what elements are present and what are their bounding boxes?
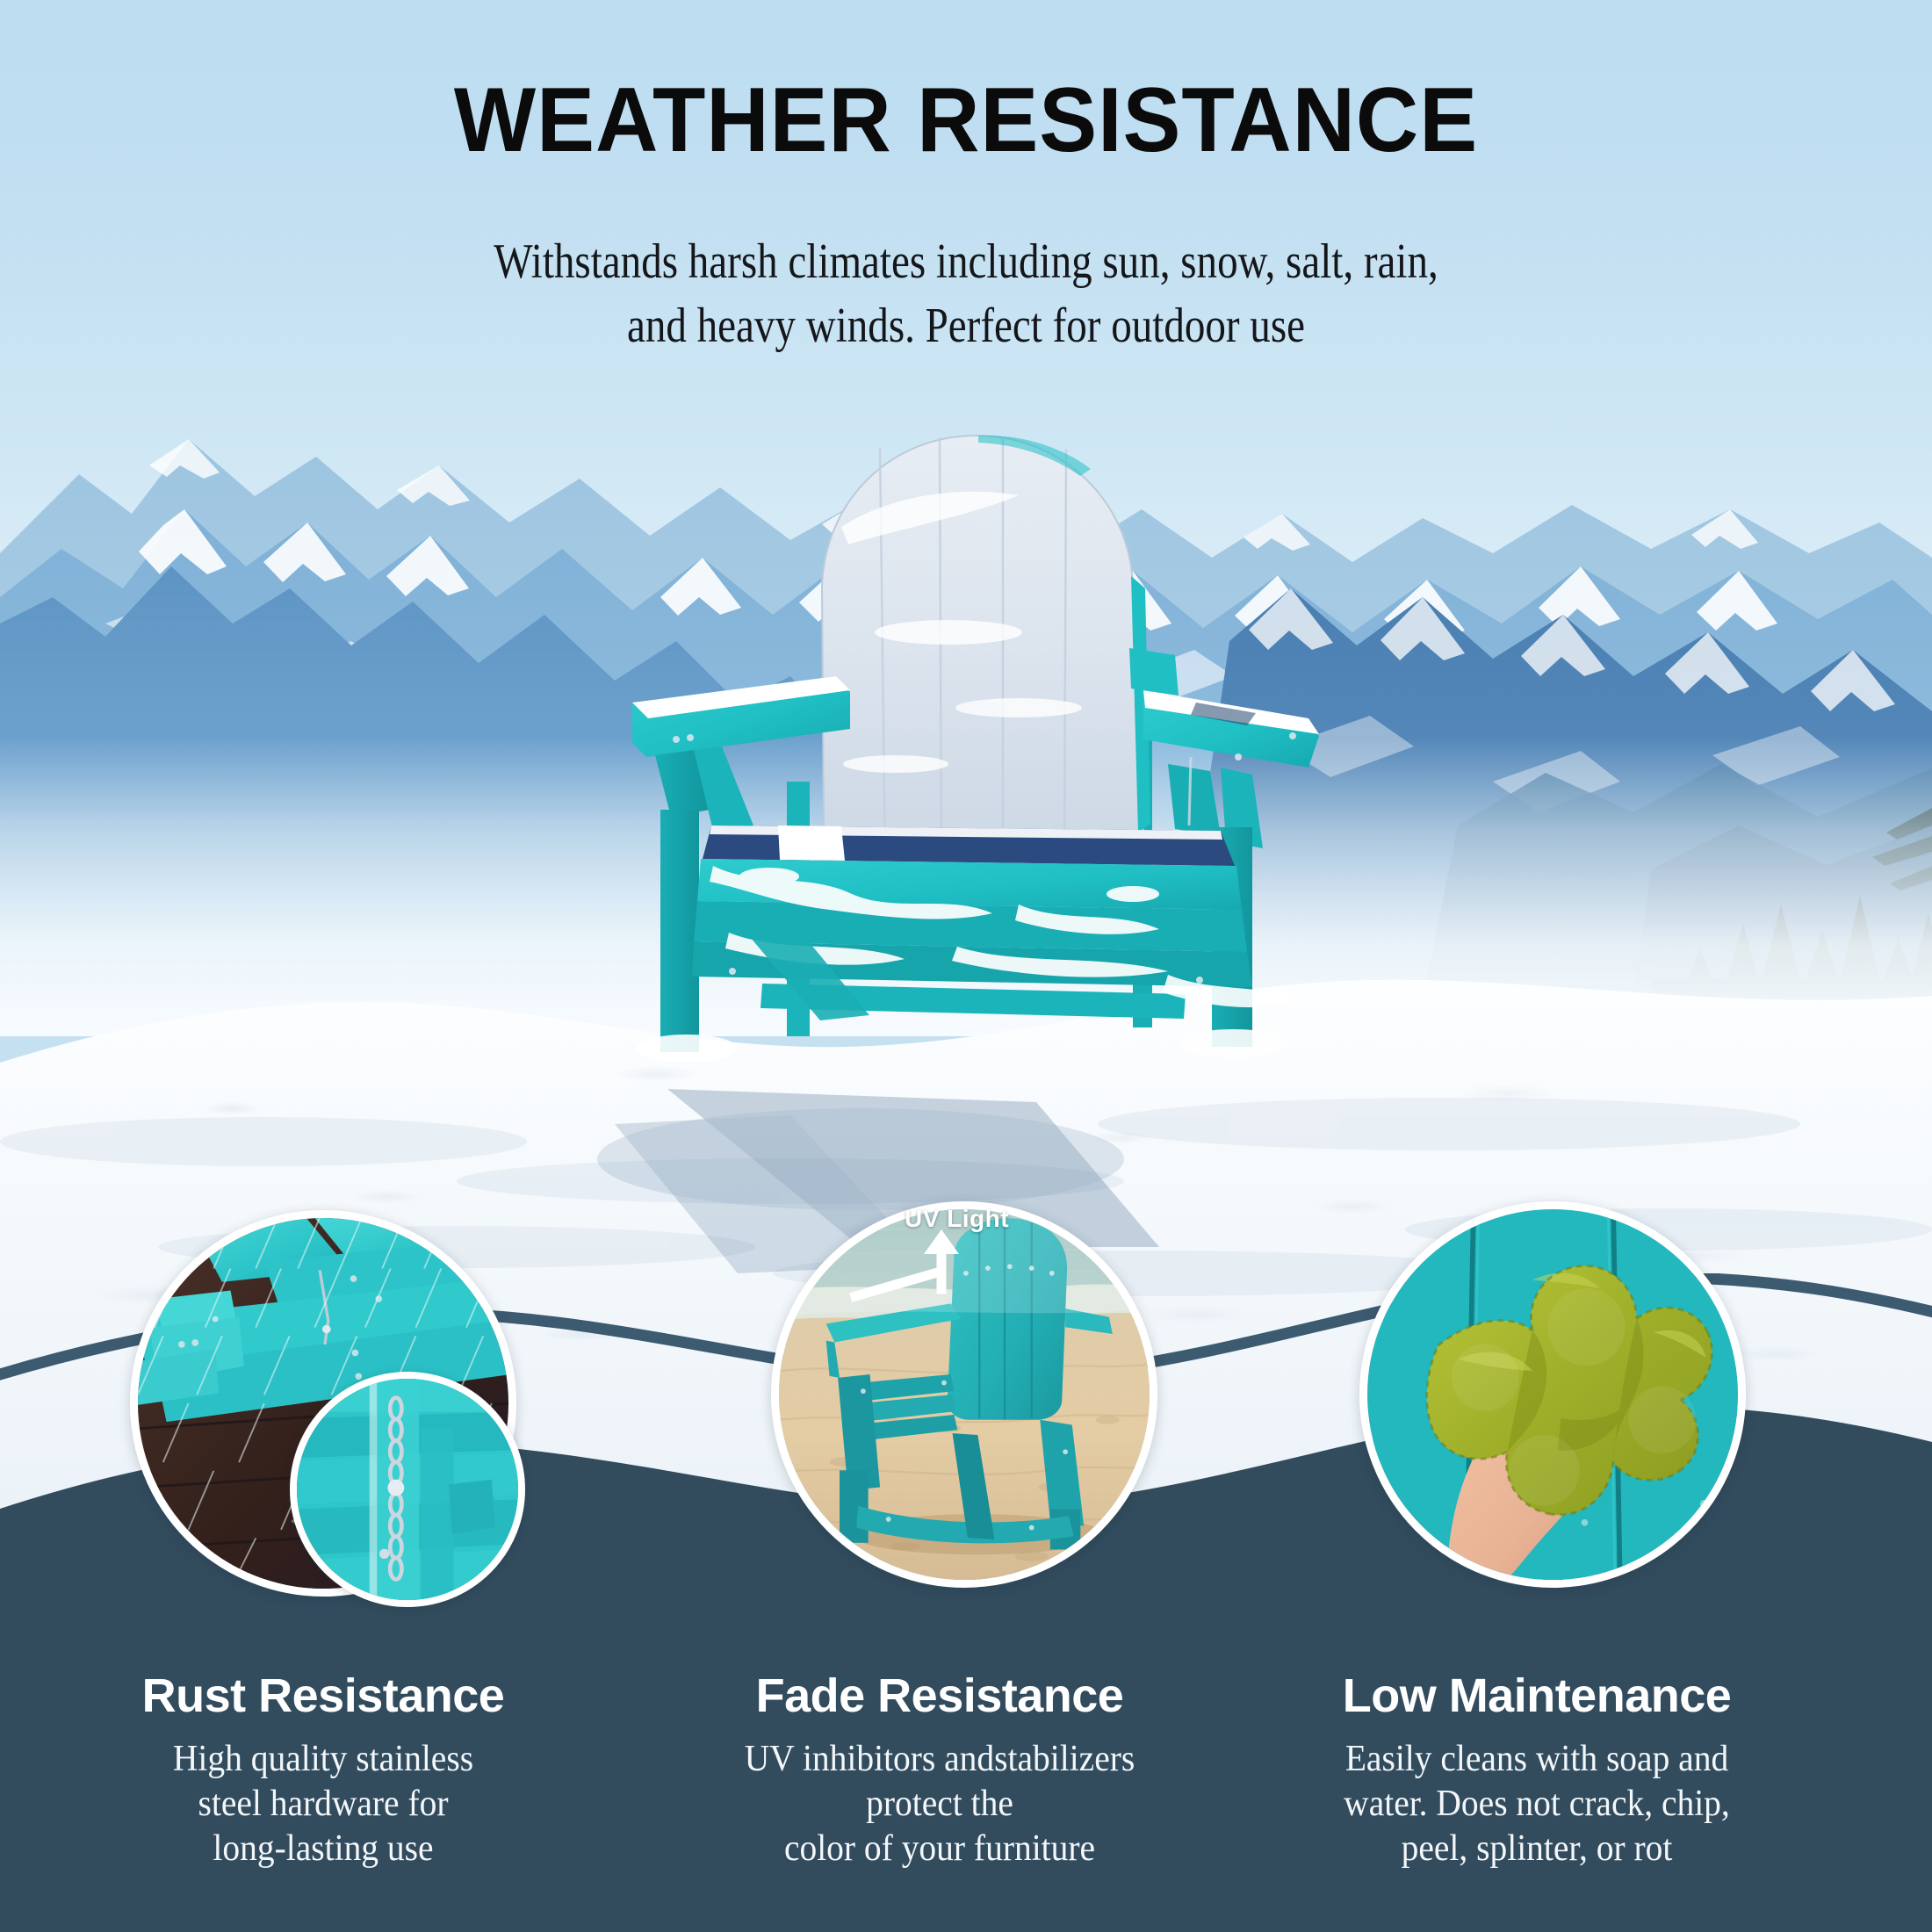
feature-body-line-2: water. Does not crack, chip,: [1344, 1784, 1730, 1824]
feature-body-rust-resistance: High quality stainless steel hardware fo…: [92, 1737, 554, 1872]
uv-light-label: UV Light: [905, 1205, 1009, 1233]
feature-body-line-1: Easily cleans with soap and: [1345, 1739, 1728, 1779]
feature-body-line-1: High quality stainless: [173, 1739, 473, 1779]
feature-body-line-1: UV inhibitors andstabilizers: [745, 1739, 1135, 1779]
page-subtitle: Withstands harsh climates including sun,…: [155, 230, 1777, 358]
feature-body-line-3: peel, splinter, or rot: [1402, 1828, 1673, 1869]
feature-body-low-maintenance: Easily cleans with soap and water. Does …: [1306, 1737, 1768, 1872]
marketing-infographic: WEATHER RESISTANCE Withstands harsh clim…: [0, 0, 1932, 1932]
feature-text-low-maintenance: Low Maintenance Easily cleans with soap …: [1291, 1669, 1783, 1872]
feature-body-fade-resistance: UV inhibitors andstabilizers protect the…: [709, 1737, 1171, 1872]
feature-heading-rust-resistance: Rust Resistance: [77, 1669, 569, 1723]
feature-body-line-2: steel hardware for: [198, 1784, 449, 1824]
stainless-chain-closeup: [297, 1379, 518, 1600]
feature-text-fade-resistance: Fade Resistance UV inhibitors andstabili…: [694, 1669, 1186, 1872]
subtitle-line-1: Withstands harsh climates including sun,…: [155, 230, 1777, 294]
feature-text-rust-resistance: Rust Resistance High quality stainless s…: [77, 1669, 569, 1872]
hardware-detail-inset: [290, 1372, 525, 1607]
feature-image-low-maintenance: [1359, 1201, 1746, 1588]
page-title: WEATHER RESISTANCE: [48, 74, 1884, 167]
feature-heading-fade-resistance: Fade Resistance: [694, 1669, 1186, 1723]
feature-body-line-3: color of your furniture: [784, 1828, 1095, 1869]
subtitle-line-2: and heavy winds. Perfect for outdoor use: [155, 294, 1777, 358]
feature-body-line-2: protect the: [866, 1784, 1013, 1824]
low-maintenance-photo: [1367, 1209, 1738, 1580]
feature-heading-low-maintenance: Low Maintenance: [1291, 1669, 1783, 1723]
hero-product-chair: [606, 413, 1335, 1080]
uv-light-arrow-icon: [843, 1228, 984, 1324]
feature-body-line-3: long-lasting use: [213, 1828, 433, 1869]
